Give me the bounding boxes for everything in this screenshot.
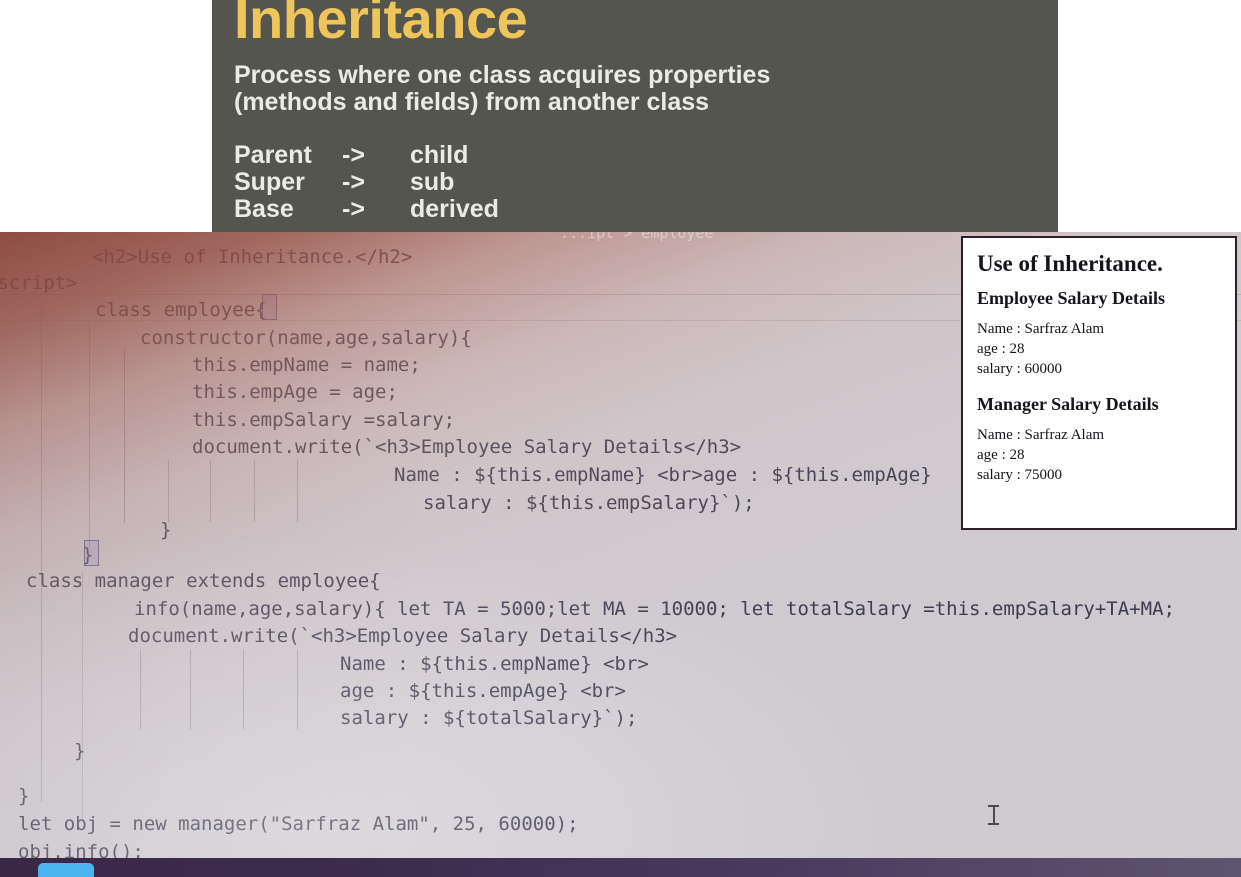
code-line-8[interactable]: Name : ${this.empName} <br>age : ${this.… <box>394 464 932 486</box>
indent-guide <box>297 460 298 522</box>
slide-description: Process where one class acquires propert… <box>234 62 1034 116</box>
slide-title: Inheritance <box>234 0 527 51</box>
indent-guide <box>41 302 42 802</box>
indent-guide <box>168 460 169 522</box>
term-super: Super <box>234 169 342 196</box>
taskbar-app-button[interactable] <box>38 863 94 877</box>
code-line-12[interactable]: class manager extends employee{ <box>26 570 381 592</box>
terminology-row: Super -> sub <box>234 169 499 196</box>
code-line-14[interactable]: document.write(`<h3>Employee Salary Deta… <box>128 625 677 647</box>
indent-guide <box>297 650 298 730</box>
indent-guide <box>254 460 255 522</box>
output-line-age: age : 28 <box>977 445 1221 465</box>
term-base: Base <box>234 196 342 223</box>
indent-guide <box>140 650 141 730</box>
code-line-15[interactable]: Name : ${this.empName} <br> <box>340 653 649 675</box>
terminology-row: Base -> derived <box>234 196 499 223</box>
indent-guide <box>190 650 191 730</box>
taskbar[interactable] <box>0 858 1241 877</box>
text-cursor-icon <box>988 804 999 826</box>
code-line-1[interactable]: /script> <box>0 272 78 294</box>
browser-output-panel: Use of Inheritance. Employee Salary Deta… <box>961 236 1237 530</box>
arrow-icon: -> <box>342 142 410 169</box>
indent-guide <box>89 320 90 548</box>
code-line-10[interactable]: } <box>160 519 171 541</box>
term-sub: sub <box>410 169 454 196</box>
output-line-name: Name : Sarfraz Alam <box>977 425 1221 445</box>
code-line-19[interactable]: } <box>18 785 29 807</box>
term-derived: derived <box>410 196 499 223</box>
output-line-salary: salary : 75000 <box>977 465 1221 485</box>
code-line-18[interactable]: } <box>74 740 85 762</box>
code-line-3[interactable]: constructor(name,age,salary){ <box>140 327 472 349</box>
term-parent: Parent <box>234 142 342 169</box>
output-section-body-employee: Name : Sarfraz Alam age : 28 salary : 60… <box>977 319 1221 379</box>
terminology-row: Parent -> child <box>234 142 499 169</box>
arrow-icon: -> <box>342 196 410 223</box>
output-line-name: Name : Sarfraz Alam <box>977 319 1221 339</box>
code-line-20[interactable]: let obj = new manager("Sarfraz Alam", 25… <box>18 813 579 835</box>
code-line-9[interactable]: salary : ${this.empSalary}`); <box>423 492 755 514</box>
output-section-heading-manager: Manager Salary Details <box>977 395 1221 413</box>
code-line-0[interactable]: <h2>Use of Inheritance.</h2> <box>92 246 412 268</box>
output-heading: Use of Inheritance. <box>977 252 1221 275</box>
output-line-age: age : 28 <box>977 339 1221 359</box>
term-child: child <box>410 142 468 169</box>
code-line-16[interactable]: age : ${this.empAge} <br> <box>340 680 626 702</box>
indent-guide <box>124 348 125 523</box>
bracket-match-highlight <box>262 294 277 320</box>
code-line-7[interactable]: document.write(`<h3>Employee Salary Deta… <box>192 436 741 458</box>
output-line-salary: salary : 60000 <box>977 359 1221 379</box>
code-line-17[interactable]: salary : ${totalSalary}`); <box>340 707 637 729</box>
indent-guide <box>243 650 244 730</box>
indent-guide <box>210 460 211 522</box>
bracket-match-highlight <box>84 540 99 566</box>
breadcrumb-label: ...ipt > employee <box>560 232 714 242</box>
code-line-13[interactable]: info(name,age,salary){ let TA = 5000;let… <box>134 598 1175 620</box>
arrow-icon: -> <box>342 169 410 196</box>
code-line-5[interactable]: this.empAge = age; <box>192 381 398 403</box>
inheritance-slide: Inheritance Process where one class acqu… <box>212 0 1058 232</box>
code-line-4[interactable]: this.empName = name; <box>192 354 421 376</box>
indent-guide <box>82 572 83 822</box>
slide-terminology-list: Parent -> child Super -> sub Base -> der… <box>234 142 499 223</box>
code-line-6[interactable]: this.empSalary =salary; <box>192 409 455 431</box>
output-section-body-manager: Name : Sarfraz Alam age : 28 salary : 75… <box>977 425 1221 485</box>
presentation-slide-region: Inheritance Process where one class acqu… <box>0 0 1241 232</box>
output-section-heading-employee: Employee Salary Details <box>977 289 1221 307</box>
code-line-2[interactable]: class employee{ <box>95 299 267 321</box>
